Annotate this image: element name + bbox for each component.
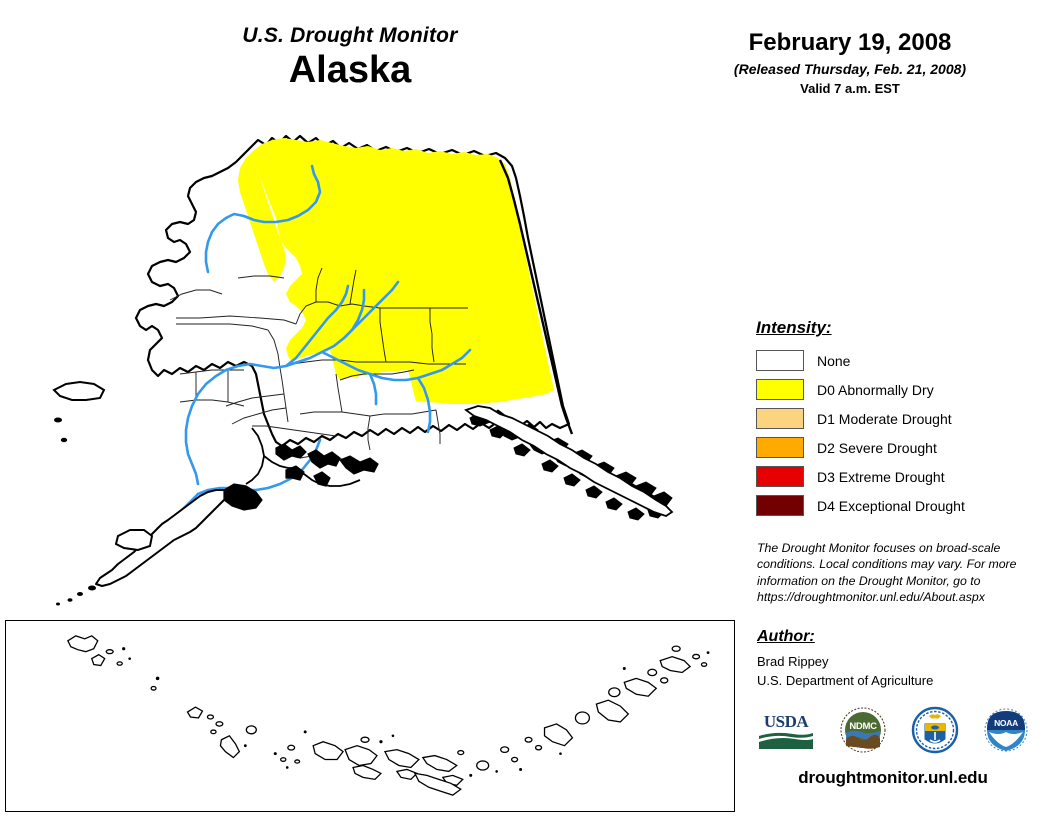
legend-label: D2 Severe Drought — [817, 440, 937, 456]
ndmc-logo-text: NDMC — [849, 721, 877, 732]
legend-swatch — [756, 408, 804, 429]
alaska-peninsula — [96, 490, 230, 586]
page-title: U.S. Drought Monitor — [120, 24, 580, 47]
partner-logos: USDA NDMC — [757, 704, 1029, 760]
disclaimer-line-1: The Drought Monitor focuses on broad-sca… — [757, 540, 1025, 556]
usda-logo-text: USDA — [764, 712, 810, 731]
author-name: Brad Rippey — [757, 653, 1027, 672]
alaska-mainland-map[interactable] — [0, 118, 740, 618]
disclaimer-line-2: conditions. Local conditions may vary. F… — [757, 556, 1025, 572]
alaska-map-svg — [0, 118, 740, 618]
kodiak-island — [224, 484, 262, 510]
author-lines: Brad Rippey U.S. Department of Agricultu… — [757, 653, 1027, 691]
disclaimer-line-3: information on the Drought Monitor, go t… — [757, 573, 1025, 589]
author-title: Author: — [757, 628, 1027, 646]
usda-logo-field — [759, 738, 813, 749]
legend-row: D2 Severe Drought — [756, 433, 1028, 462]
legend-title: Intensity: — [756, 318, 1028, 338]
usda-logo[interactable]: USDA — [757, 709, 815, 756]
aleutian-island-outlines — [68, 636, 707, 795]
nunivak-island — [116, 530, 152, 550]
southwest-islands — [56, 586, 96, 606]
author-block: Author: Brad Rippey U.S. Department of A… — [757, 628, 1027, 691]
disclaimer-text: The Drought Monitor focuses on broad-sca… — [757, 540, 1025, 605]
disclaimer-url[interactable]: https://droughtmonitor.unl.edu/About.asp… — [757, 589, 1025, 605]
legend-swatch — [756, 437, 804, 458]
legend-row: D4 Exceptional Drought — [756, 491, 1028, 520]
ndmc-logo-svg: NDMC — [839, 706, 887, 754]
legend-row: D3 Extreme Drought — [756, 462, 1028, 491]
valid-time: Valid 7 a.m. EST — [690, 81, 1010, 96]
pribilof-islands — [54, 418, 67, 443]
usda-logo-svg: USDA — [757, 709, 815, 751]
unl-seal-book — [931, 725, 939, 729]
st-lawrence-island — [54, 382, 104, 400]
legend: Intensity: NoneD0 Abnormally DryD1 Moder… — [756, 318, 1028, 520]
unl-seal-logo[interactable] — [911, 706, 959, 759]
legend-swatch — [756, 495, 804, 516]
legend-swatch — [756, 379, 804, 400]
date-block: February 19, 2008 (Released Thursday, Fe… — [690, 30, 1010, 96]
region-title: Alaska — [120, 49, 580, 93]
legend-row: D0 Abnormally Dry — [756, 375, 1028, 404]
legend-label: D1 Moderate Drought — [817, 411, 952, 427]
aleutian-inset-box — [5, 620, 735, 812]
aleutian-islands-svg — [6, 621, 734, 811]
legend-swatch — [756, 466, 804, 487]
aleutian-inset-wrapper[interactable] — [5, 620, 735, 812]
legend-label: D3 Extreme Drought — [817, 469, 945, 485]
legend-label: D4 Exceptional Drought — [817, 498, 965, 514]
legend-row: None — [756, 346, 1028, 375]
title-block: U.S. Drought Monitor Alaska — [120, 24, 580, 93]
legend-label: D0 Abnormally Dry — [817, 382, 934, 398]
unl-seal-svg — [911, 706, 959, 754]
release-date: (Released Thursday, Feb. 21, 2008) — [690, 60, 1010, 78]
author-organization: U.S. Department of Agriculture — [757, 672, 1027, 691]
ndmc-logo[interactable]: NDMC — [839, 706, 887, 759]
site-url[interactable]: droughtmonitor.unl.edu — [757, 768, 1029, 788]
noaa-logo-svg: NOAA — [983, 706, 1029, 754]
noaa-logo[interactable]: NOAA — [983, 706, 1029, 759]
legend-label: None — [817, 353, 850, 369]
legend-swatch — [756, 350, 804, 371]
valid-date: February 19, 2008 — [690, 30, 1010, 57]
legend-rows: NoneD0 Abnormally DryD1 Moderate Drought… — [756, 346, 1028, 520]
noaa-logo-text: NOAA — [994, 718, 1018, 728]
legend-row: D1 Moderate Drought — [756, 404, 1028, 433]
